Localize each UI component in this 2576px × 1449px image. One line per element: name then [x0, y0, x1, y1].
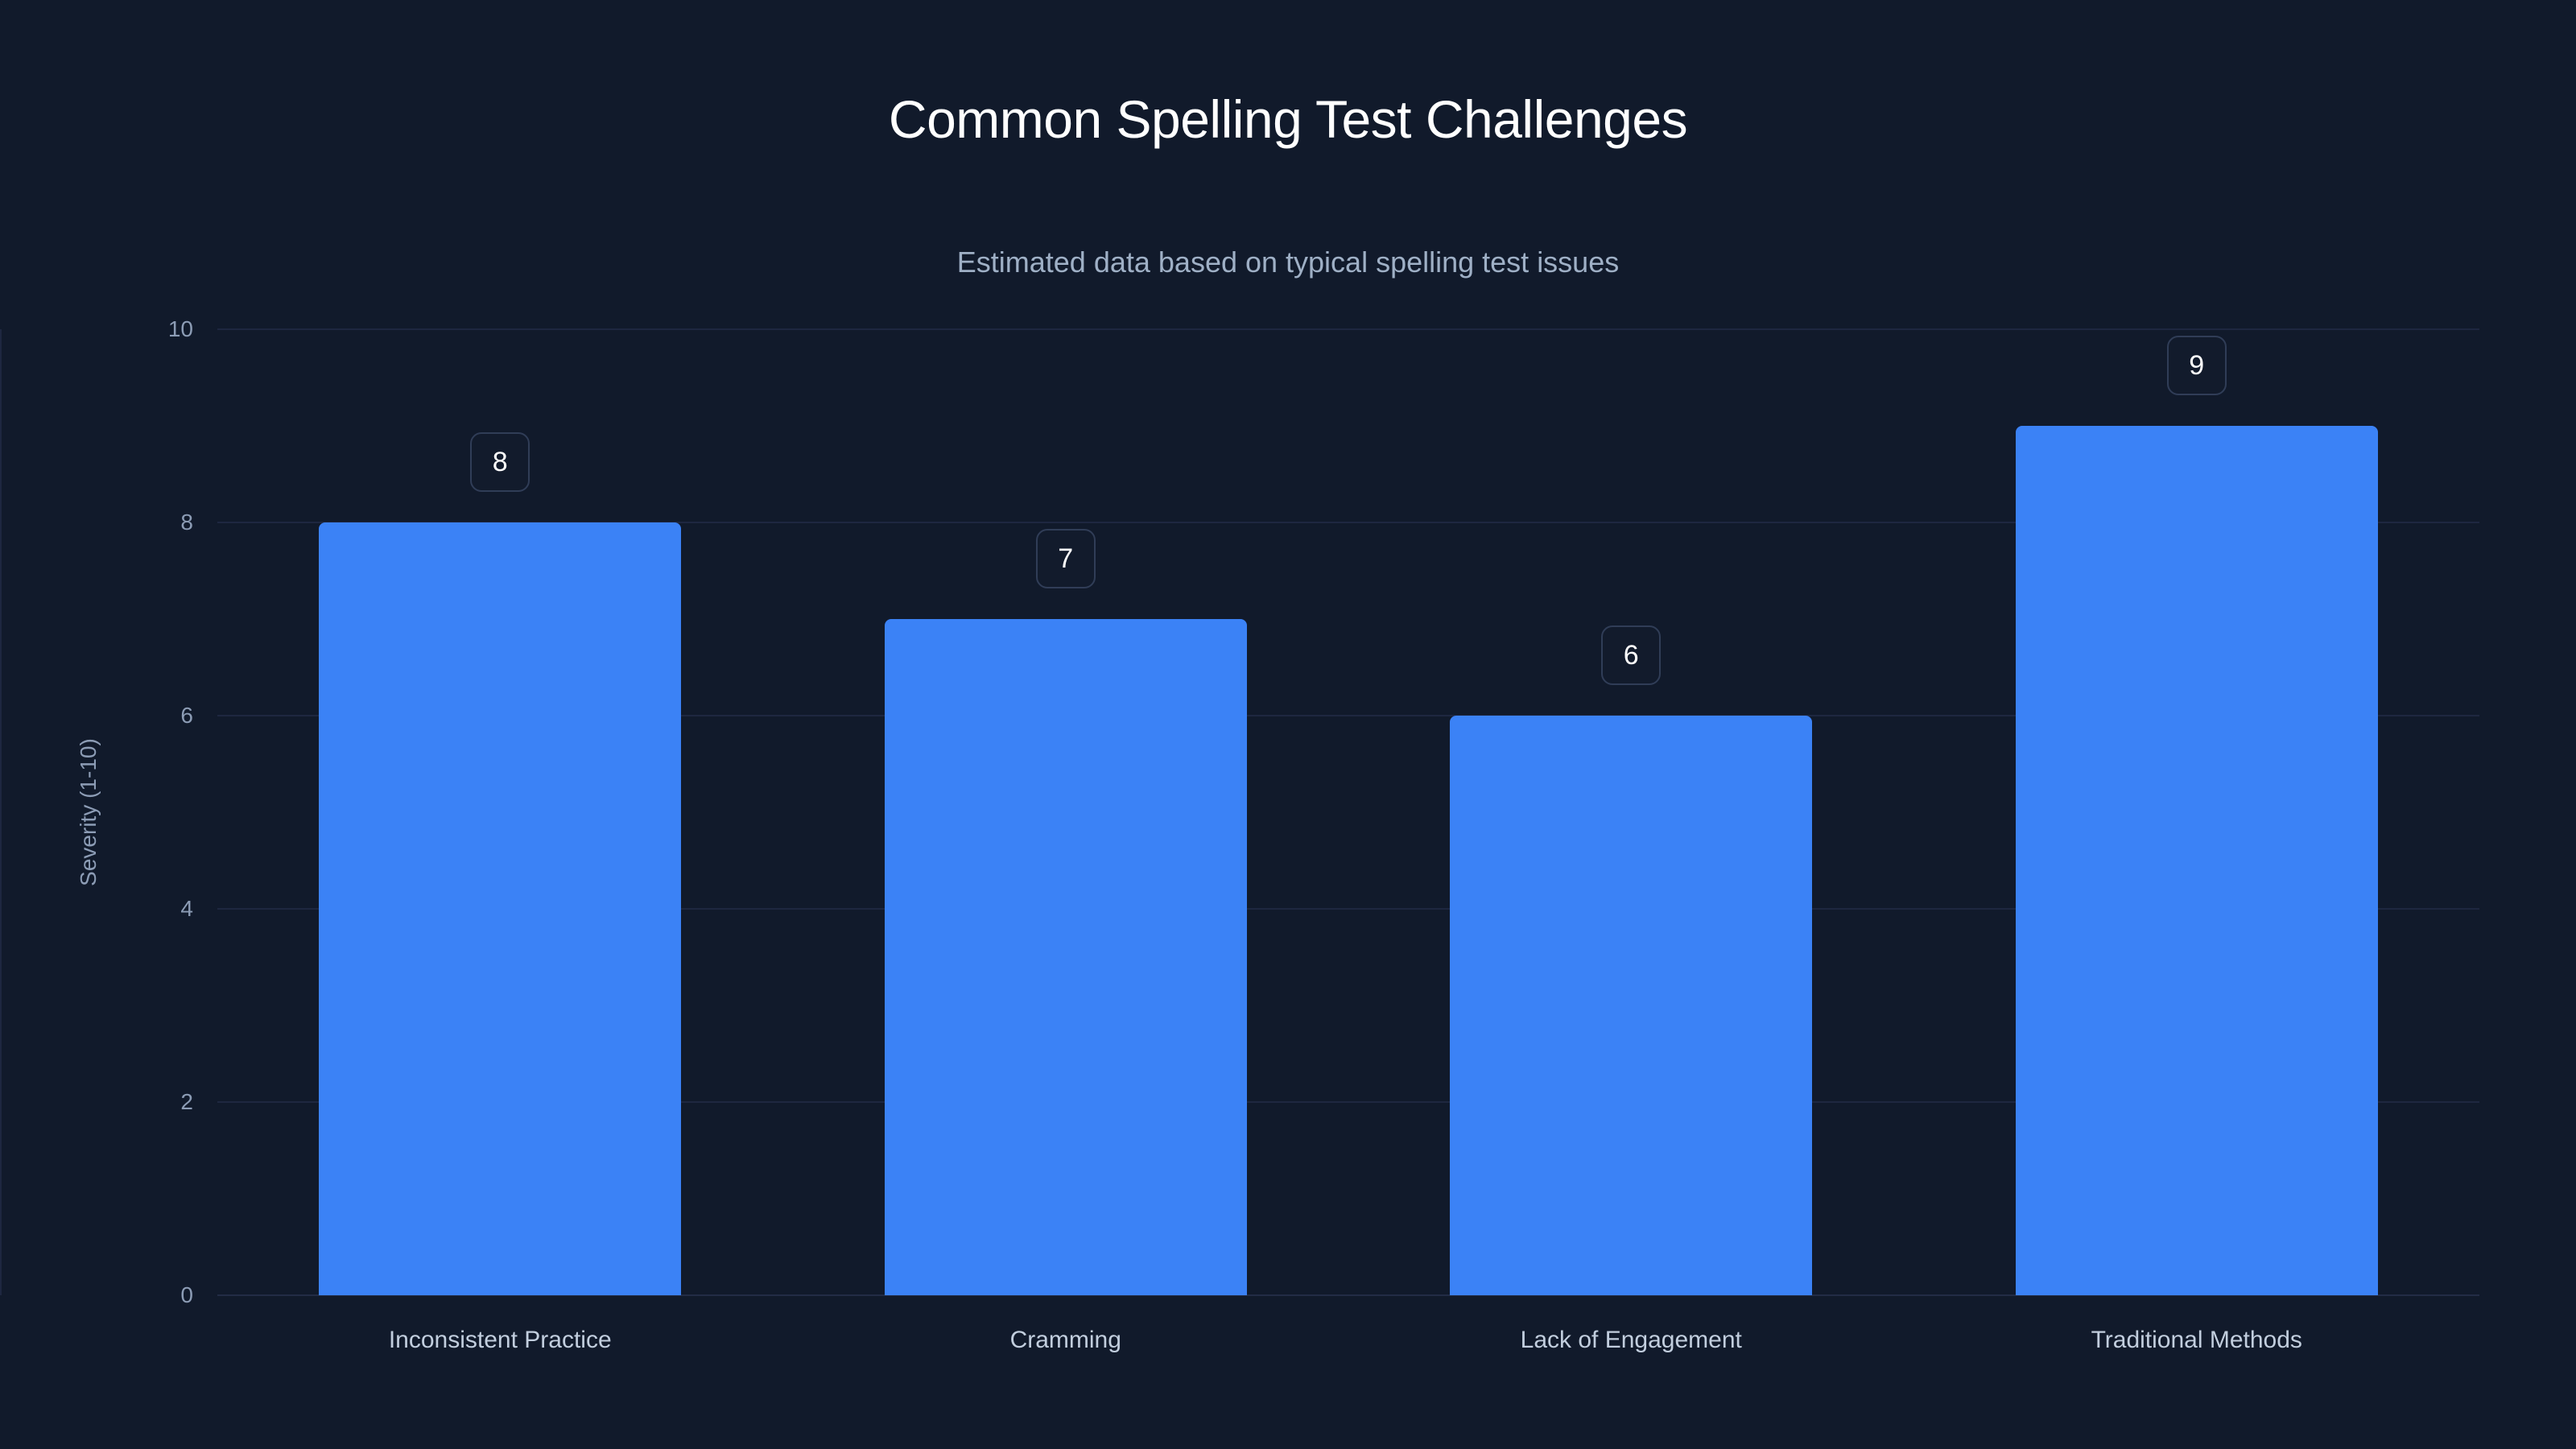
bar-chart-canvas: Common Spelling Test Challenges Estimate…: [0, 0, 2576, 1449]
bar[interactable]: [319, 522, 681, 1295]
y-axis-tick-label: 10: [72, 316, 193, 342]
bar[interactable]: [885, 619, 1247, 1295]
x-axis-category-label: Inconsistent Practice: [389, 1327, 612, 1354]
bars-group: [217, 329, 2479, 1295]
x-axis-category-label: Traditional Methods: [2091, 1327, 2302, 1354]
y-axis-tick-label: 0: [72, 1282, 193, 1308]
y-axis-title: Severity (1-10): [76, 738, 101, 886]
bar-value-label: 7: [1036, 529, 1096, 588]
y-axis-tick-label: 6: [72, 703, 193, 729]
bar[interactable]: [2016, 426, 2378, 1295]
y-axis-tick-label: 4: [72, 896, 193, 922]
bar-value-label: 6: [1601, 625, 1661, 685]
y-axis-tick-label: 2: [72, 1089, 193, 1115]
x-axis-category-label: Cramming: [1010, 1327, 1121, 1354]
y-axis-line: [0, 329, 2, 1295]
x-axis-category-label: Lack of Engagement: [1521, 1327, 1742, 1354]
bar-value-label: 8: [470, 432, 530, 492]
bar[interactable]: [1450, 716, 1812, 1295]
y-axis-tick-label: 8: [72, 510, 193, 535]
bar-value-label: 9: [2167, 336, 2227, 395]
chart-title: Common Spelling Test Challenges: [0, 89, 2576, 150]
chart-subtitle: Estimated data based on typical spelling…: [0, 246, 2576, 279]
